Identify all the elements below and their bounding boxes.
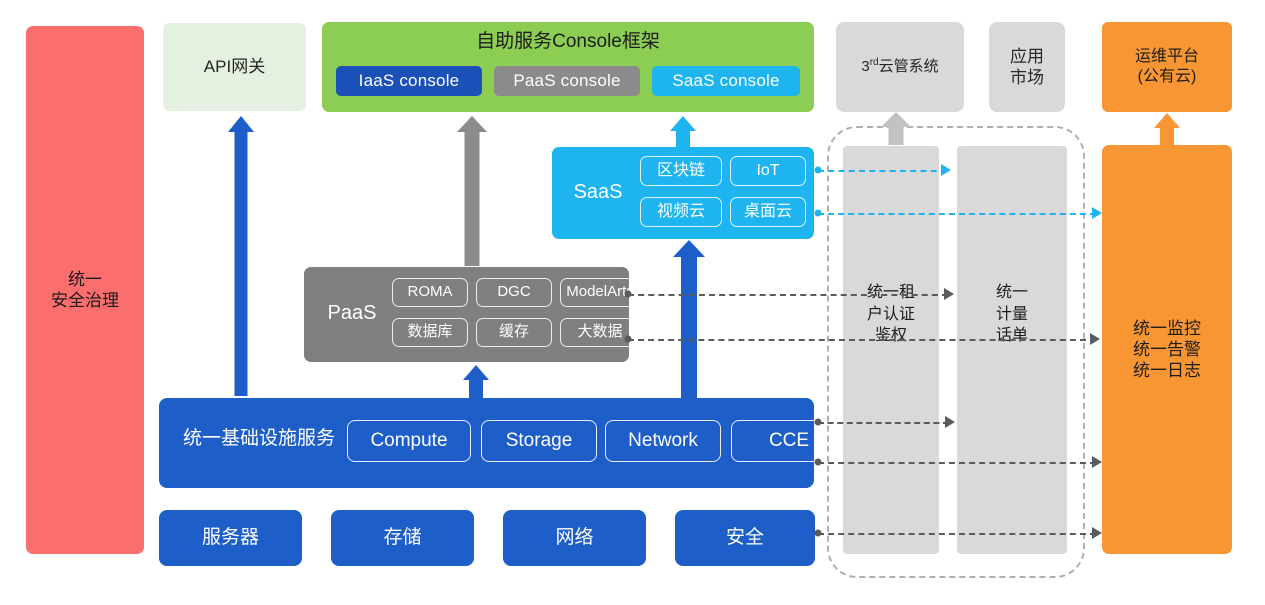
third-party-cloud-sup: rd	[870, 57, 879, 68]
paas-item-dgc[interactable]: DGC	[476, 278, 552, 307]
arrowhead-paas-to-ops	[1090, 333, 1100, 345]
auth-line3: 鉴权	[843, 325, 939, 347]
app-market-box[interactable]: 应用 市场	[989, 22, 1065, 112]
dashed-line-paas-to-ops	[628, 339, 1096, 341]
arrow-shared-to-third-party-cloud	[880, 112, 912, 144]
auth-line2: 户认证	[843, 304, 939, 326]
paas-item-database[interactable]: 数据库	[392, 318, 468, 347]
infra-item-compute[interactable]: Compute	[347, 420, 471, 462]
arrow-infra-to-api-gateway	[226, 116, 256, 396]
architecture-diagram: 统一 安全治理 API网关 自助服务Console框架 IaaS console…	[0, 0, 1265, 605]
resource-label-server: 服务器	[202, 526, 259, 550]
resource-label-network: 网络	[555, 526, 593, 550]
iaas-console-chip[interactable]: IaaS console	[336, 66, 482, 96]
self-service-console-frame[interactable]: 自助服务Console框架 IaaS console PaaS console …	[322, 22, 814, 112]
saas-item-video-cloud[interactable]: 视频云	[640, 197, 722, 227]
arrowhead-saas-to-ops	[1092, 207, 1102, 219]
unified-tenant-auth-label: 统一租 户认证 鉴权	[843, 282, 939, 347]
saas-item-blockchain[interactable]: 区块链	[640, 156, 722, 186]
ops-platform-top-line1: 运维平台	[1135, 47, 1199, 67]
api-gateway-box[interactable]: API网关	[163, 23, 306, 111]
ops-platform-top-label: 运维平台 (公有云)	[1135, 47, 1199, 87]
meter-line1: 统一	[957, 282, 1067, 304]
app-market-line1: 应用	[1010, 46, 1044, 67]
resource-box-storage[interactable]: 存储	[331, 510, 474, 566]
dashed-line-infra-to-ops	[818, 462, 1096, 464]
third-party-cloud-main: 云管系统	[879, 58, 939, 75]
infra-item-network[interactable]: Network	[605, 420, 721, 462]
auth-line1: 统一租	[843, 282, 939, 304]
dashed-line-paas-to-auth	[628, 294, 948, 296]
resource-box-server[interactable]: 服务器	[159, 510, 302, 566]
api-gateway-label: API网关	[204, 56, 265, 77]
infra-item-storage[interactable]: Storage	[481, 420, 597, 462]
security-governance-column[interactable]: 统一 安全治理	[26, 26, 144, 554]
resource-label-security: 安全	[726, 526, 764, 550]
paas-block[interactable]: PaaS ROMA DGC ModelArts 数据库 缓存 大数据	[304, 267, 629, 362]
paas-label: PaaS	[312, 301, 392, 326]
security-governance-line1: 统一	[51, 269, 119, 290]
arrow-ops-column-to-ops-top	[1152, 113, 1182, 147]
unified-metering-label: 统一 计量 话单	[957, 282, 1067, 347]
app-market-line2: 市场	[1010, 67, 1044, 88]
resource-box-network[interactable]: 网络	[503, 510, 646, 566]
resource-label-storage: 存储	[383, 526, 421, 550]
meter-line2: 计量	[957, 304, 1067, 326]
arrowhead-resources-to-ops	[1092, 527, 1102, 539]
dashed-line-resources-to-ops	[818, 533, 1096, 535]
paas-item-roma[interactable]: ROMA	[392, 278, 468, 307]
security-governance-line2: 安全治理	[51, 290, 119, 311]
dashed-line-saas-to-ops	[818, 213, 1096, 215]
arrowhead-infra-to-ops	[1092, 456, 1102, 468]
ops-platform-top-box[interactable]: 运维平台 (公有云)	[1102, 22, 1232, 112]
saas-item-iot[interactable]: IoT	[730, 156, 806, 186]
ops-alarm-line: 统一告警	[1133, 339, 1201, 360]
paas-item-cache[interactable]: 缓存	[476, 318, 552, 347]
unified-metering-column[interactable]	[957, 146, 1067, 554]
dashed-line-infra-to-auth	[818, 422, 949, 424]
ops-platform-top-line2: (公有云)	[1135, 67, 1199, 87]
saas-item-desktop-cloud[interactable]: 桌面云	[730, 197, 806, 227]
paas-item-bigdata[interactable]: 大数据	[560, 318, 640, 347]
ops-platform-column[interactable]: 统一监控 统一告警 统一日志	[1102, 145, 1232, 554]
unified-tenant-auth-column[interactable]	[843, 146, 939, 554]
arrowhead-infra-to-auth	[945, 416, 955, 428]
arrow-paas-to-console	[455, 116, 489, 266]
arrow-saas-to-console	[668, 116, 698, 148]
arrowhead-saas-to-auth	[941, 164, 951, 176]
ops-monitor-line: 统一监控	[1133, 318, 1201, 339]
arrowhead-paas-to-auth	[944, 288, 954, 300]
arrow-infra-to-saas	[672, 240, 706, 398]
meter-line3: 话单	[957, 325, 1067, 347]
saas-console-chip[interactable]: SaaS console	[652, 66, 800, 96]
ops-platform-column-label: 统一监控 统一告警 统一日志	[1133, 318, 1201, 382]
arrow-infra-to-paas	[461, 365, 491, 399]
resource-box-security[interactable]: 安全	[675, 510, 815, 566]
app-market-label: 应用 市场	[1010, 46, 1044, 89]
ops-log-line: 统一日志	[1133, 360, 1201, 381]
saas-label: SaaS	[562, 180, 634, 205]
third-party-cloud-prefix: 3	[861, 58, 869, 75]
console-frame-title: 自助服务Console框架	[322, 30, 814, 54]
unified-infrastructure-bar[interactable]: 统一基础设施服务 Compute Storage Network CCE	[159, 398, 814, 488]
third-party-cloud-label: 3rd云管系统	[861, 57, 938, 77]
security-governance-label: 统一 安全治理	[51, 269, 119, 312]
paas-console-chip[interactable]: PaaS console	[494, 66, 640, 96]
third-party-cloud-management-box[interactable]: 3rd云管系统	[836, 22, 964, 112]
saas-block[interactable]: SaaS 区块链 IoT 视频云 桌面云	[552, 147, 814, 239]
unified-infrastructure-label: 统一基础设施服务	[173, 427, 345, 451]
dashed-line-saas-to-auth	[818, 170, 947, 172]
